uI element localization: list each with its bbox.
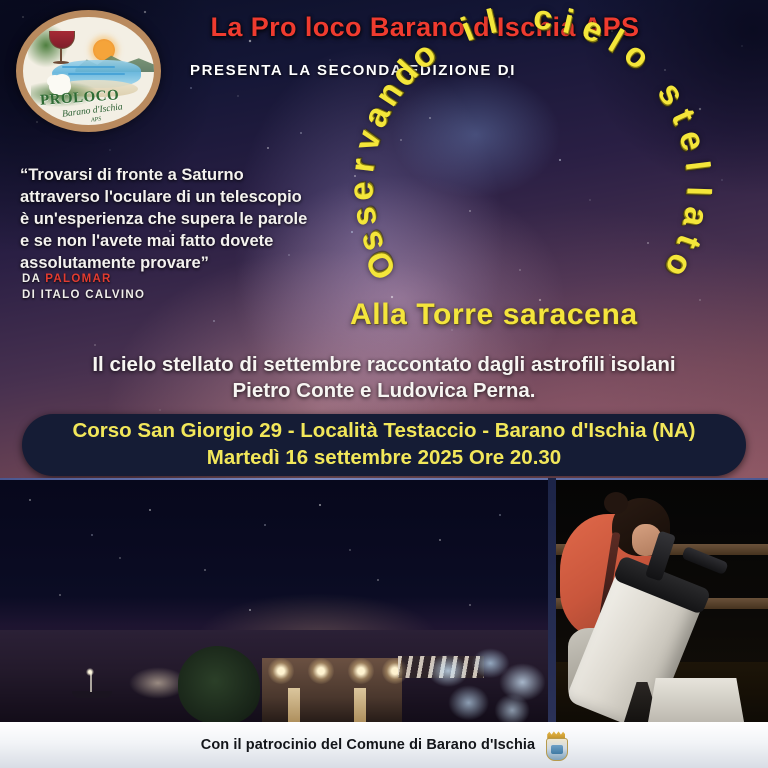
- quote-source-author: DI ITALO CALVINO: [22, 289, 145, 301]
- calvino-quote: “Trovarsi di fronte a Saturno attraverso…: [20, 165, 310, 275]
- description-line-2: Pietro Conte e Ludovica Perna.: [34, 378, 734, 404]
- photo-left-doorway-1: [288, 688, 300, 722]
- patronage-footer: Con il patrocinio del Comune di Barano d…: [0, 722, 768, 768]
- event-poster: PROLOCO Barano d'Ischia APS La Pro loco …: [0, 0, 768, 768]
- arched-title-letter: t: [668, 230, 709, 254]
- arched-title-letter: s: [344, 204, 386, 230]
- arched-event-title: Osservando il cielo stellato: [330, 56, 730, 316]
- photo-strip: [0, 478, 768, 722]
- event-description: Il cielo stellato di settembre raccontat…: [34, 352, 734, 404]
- event-address: Corso San Giorgio 29 - Località Testacci…: [72, 418, 695, 445]
- arched-title-letter: o: [656, 247, 700, 284]
- photo-right-hair-bun: [604, 492, 628, 514]
- arched-title-letter: a: [674, 204, 716, 230]
- patronage-text: Con il patrocinio del Comune di Barano d…: [201, 737, 535, 753]
- night-seascape-photo: [0, 480, 548, 722]
- wine-glass-icon: [48, 31, 74, 69]
- arched-title-letter: e: [670, 126, 713, 155]
- arched-title-letter: e: [342, 181, 382, 201]
- arched-title-letter: t: [663, 103, 703, 129]
- arched-title-letter: l: [678, 186, 717, 197]
- photo-left-doorway-2: [354, 688, 366, 722]
- photo-left-lamp-2: [308, 658, 334, 684]
- photo-left-lamp-1: [268, 658, 294, 684]
- quote-attribution: DA PALOMAR DI ITALO CALVINO: [22, 272, 145, 303]
- venue-name: Alla Torre saracena: [350, 298, 750, 332]
- photo-left-lamp-3: [348, 658, 374, 684]
- arched-title-letter: v: [347, 126, 390, 155]
- photo-left-stars: [0, 480, 548, 630]
- photo-left-sailboat: [72, 672, 112, 698]
- logo-year-text: APS: [91, 116, 102, 123]
- arched-title-letter: c: [532, 0, 554, 39]
- arched-title-letter: r: [343, 157, 383, 175]
- address-banner: Corso San Giorgio 29 - Località Testacci…: [22, 414, 746, 476]
- pro-loco-logo: PROLOCO Barano d'Ischia APS: [16, 10, 161, 132]
- event-datetime: Martedì 16 settembre 2025 Ore 20.30: [207, 445, 561, 472]
- arched-title-letter: s: [649, 75, 692, 112]
- photo-left-lit-shrub: [420, 648, 548, 722]
- quote-source-prefix: DA: [22, 273, 45, 285]
- arched-title-letter: l: [677, 159, 717, 173]
- logo-oval-frame: PROLOCO Barano d'Ischia APS: [16, 10, 161, 132]
- telescope-observer-photo: [556, 480, 768, 722]
- quote-source-work: PALOMAR: [45, 273, 111, 285]
- photo-divider: [548, 478, 556, 722]
- logo-wave-2: [68, 73, 126, 75]
- photo-left-tree: [178, 646, 260, 722]
- description-line-1: Il cielo stellato di settembre raccontat…: [34, 352, 734, 378]
- telescope-dobsonian-mount: [648, 678, 744, 722]
- comune-coat-of-arms-icon: [545, 731, 567, 759]
